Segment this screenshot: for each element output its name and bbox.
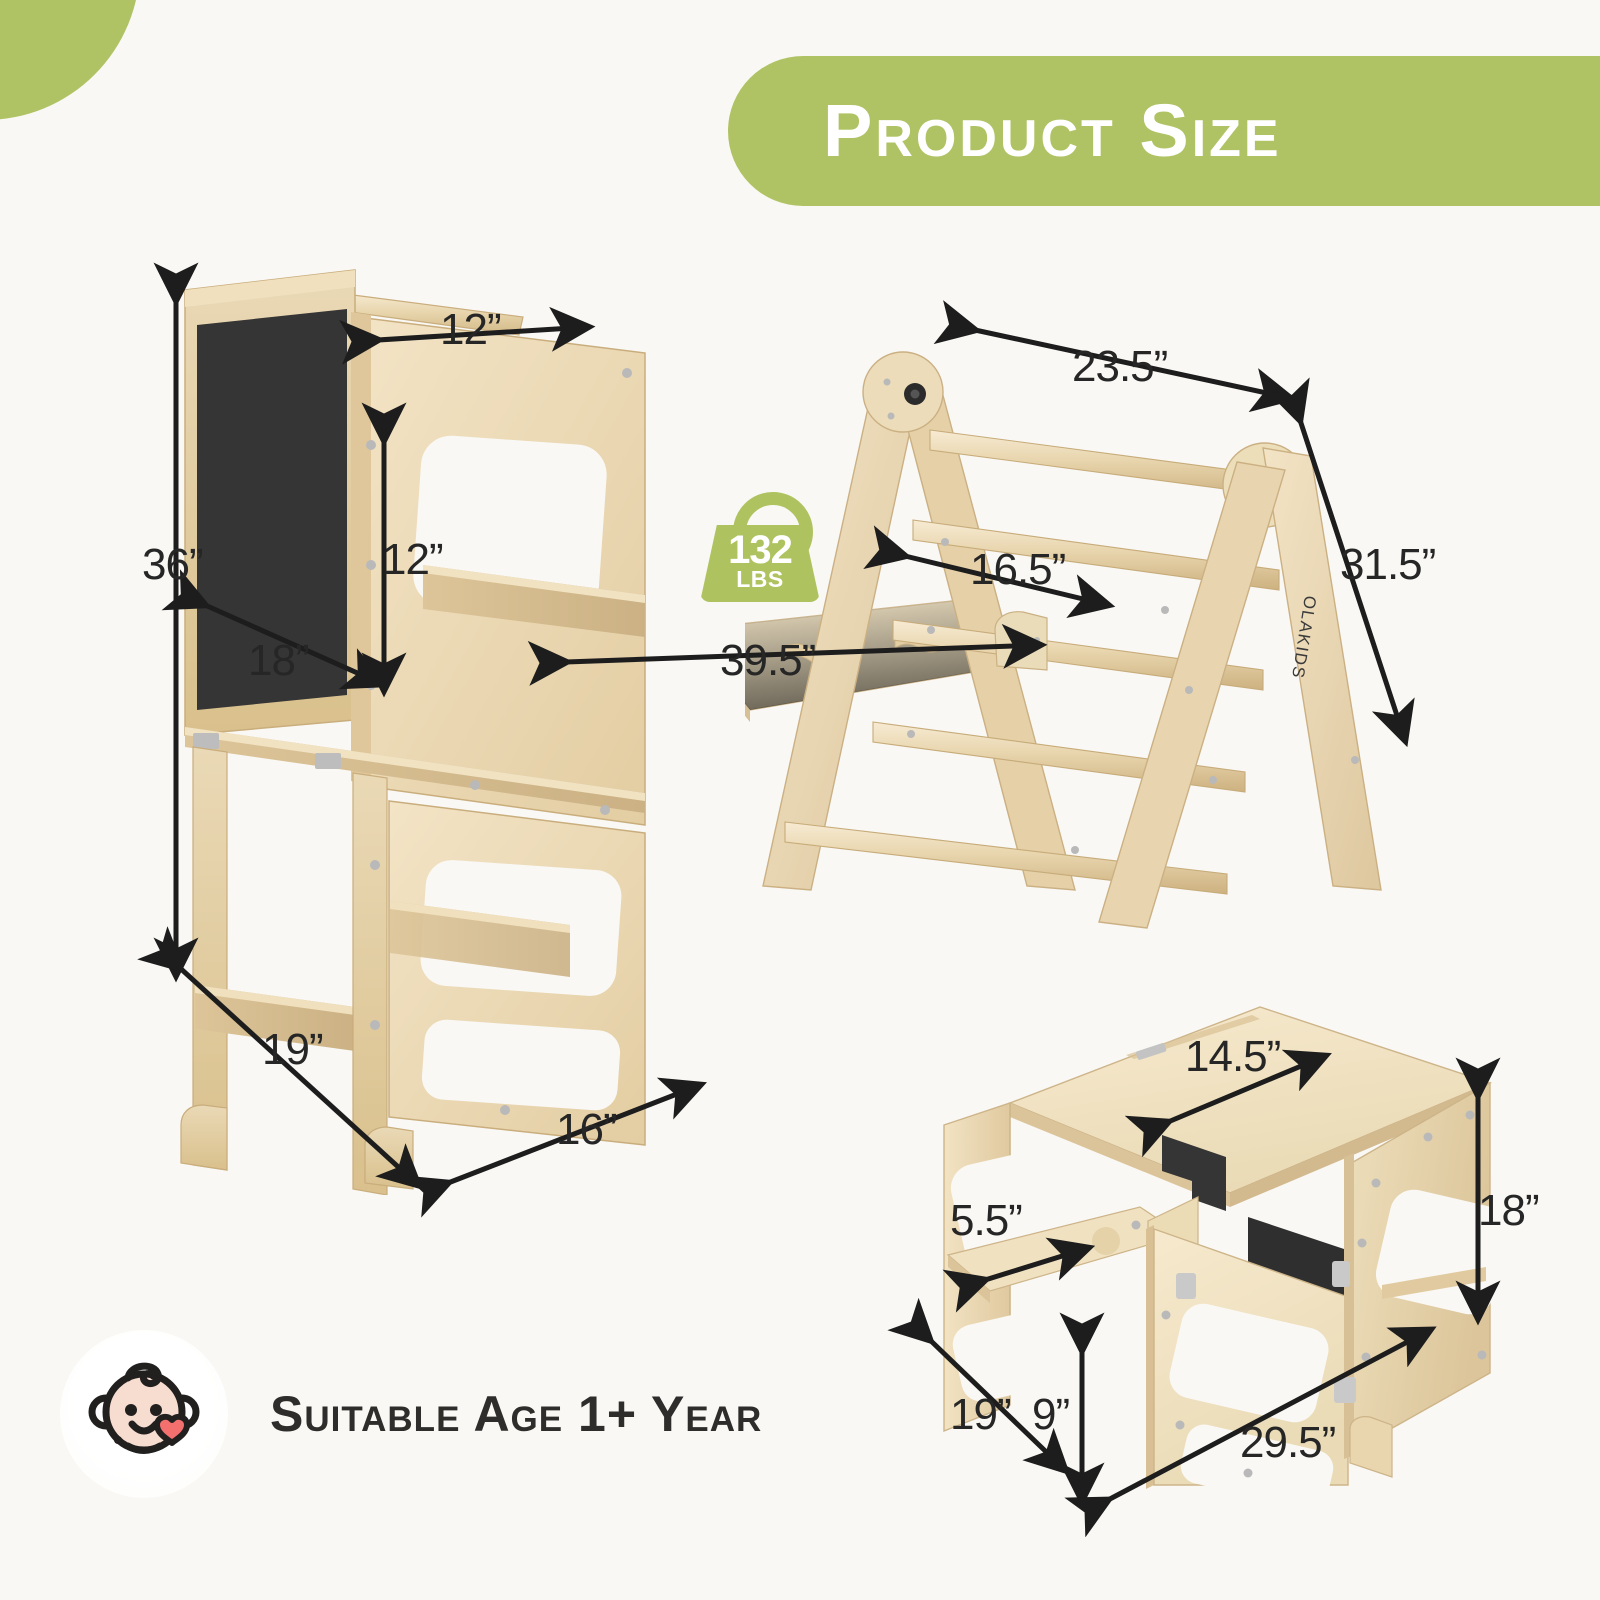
weight-capacity-badge: 132 LBS — [700, 492, 820, 602]
dim-tower-panel-width: 18” — [248, 636, 309, 686]
dim-unit-side-depth: 19” — [950, 1390, 1011, 1440]
dim-triangle-side-length: 31.5” — [1340, 540, 1435, 590]
suitable-age-label: Suitable Age 1+ Year — [270, 1385, 762, 1443]
dim-ramp-length: 39.5” — [720, 636, 815, 686]
suitable-age-row: Suitable Age 1+ Year — [60, 1330, 762, 1498]
dim-table-top-depth: 14.5” — [1185, 1032, 1280, 1082]
baby-face-icon — [84, 1354, 204, 1474]
dim-tower-base-depth: 19” — [262, 1025, 323, 1075]
dim-tower-panel-height: 12” — [382, 535, 443, 585]
dim-unit-width: 29.5” — [1240, 1418, 1335, 1468]
weight-unit: LBS — [700, 568, 820, 591]
dim-tower-height: 36” — [142, 540, 203, 590]
decorative-corner-blob — [0, 0, 140, 120]
climbing-triangle-illustration: OLAKIDS — [745, 330, 1475, 930]
dim-step-depth: 5.5” — [950, 1196, 1022, 1246]
title-banner: Product Size — [728, 56, 1600, 206]
dim-tower-base-width: 16” — [556, 1105, 617, 1155]
dim-ramp-width: 16.5” — [970, 545, 1065, 595]
dim-tower-top-depth: 12” — [440, 305, 501, 355]
learning-tower-illustration — [175, 265, 665, 1195]
infographic-canvas: Product Size — [0, 0, 1600, 1600]
weight-value: 132 — [700, 530, 820, 570]
dim-seat-height: 9” — [1032, 1390, 1069, 1440]
dim-triangle-top-width: 23.5” — [1072, 342, 1167, 392]
dim-unit-height: 18” — [1478, 1186, 1539, 1236]
page-title: Product Size — [823, 94, 1282, 168]
baby-icon-chip — [60, 1330, 228, 1498]
